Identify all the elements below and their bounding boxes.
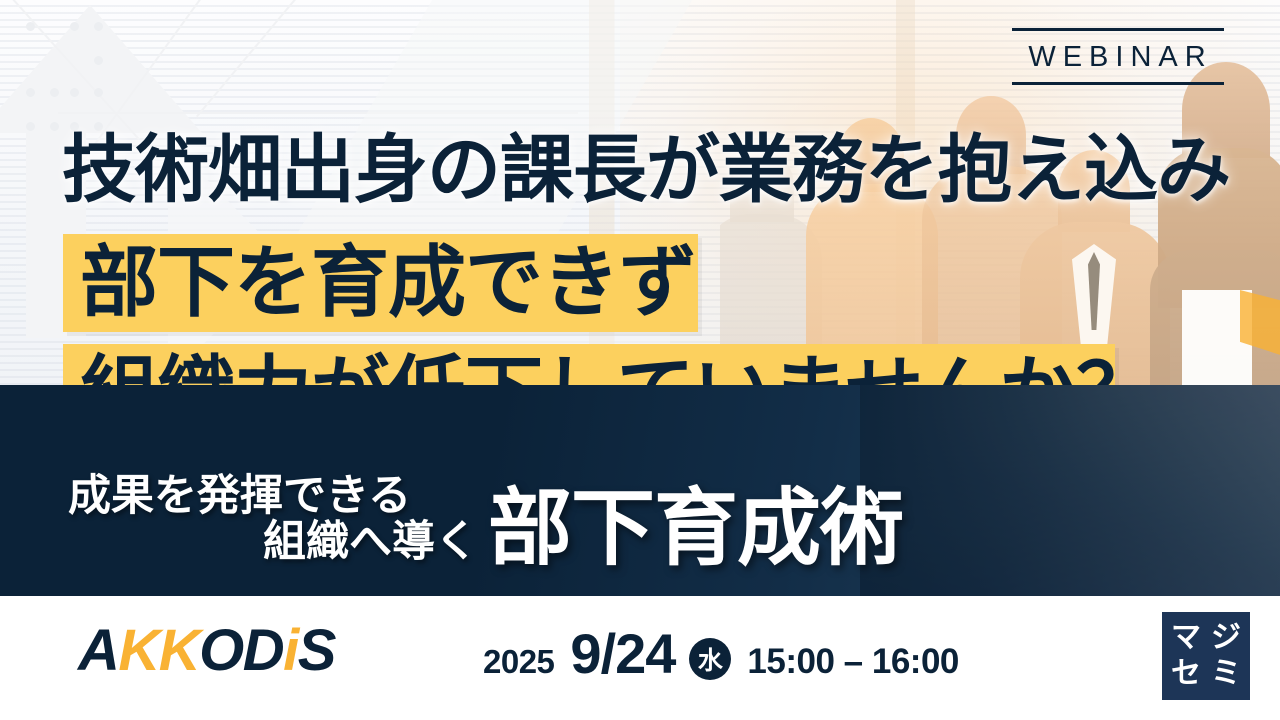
schedule-month-day: 9/24 [570,626,675,682]
akkodis-logo-part-i: i [283,618,298,683]
subtitle-group: 成果を発揮できる 組織へ導く 部下育成術 [0,385,1280,596]
majisemi-char-3: セ [1166,656,1206,692]
akkodis-logo-part-s: S [298,618,335,683]
schedule-time: 15:00 – 16:00 [747,642,958,682]
akkodis-logo-part-kk: KK [118,618,199,683]
schedule-year: 2025 [483,643,554,681]
headline-line-1: 技術畑出身の課長が業務を抱え込み [62,129,1230,211]
subtitle-small-line-1: 成果を発揮できる [68,473,411,519]
akkodis-logo-part-a: A [78,618,118,683]
majisemi-char-4: ミ [1206,656,1246,692]
headline-line-2: 部下を育成できず [80,243,696,321]
subtitle-emphasis: 部下育成術 [488,485,903,571]
akkodis-logo: AKKODiS [78,622,335,680]
schedule-group: 2025 9/24 水 15:00 – 16:00 [483,626,959,684]
footer-bar: AKKODiS 2025 9/24 水 15:00 – 16:00 [0,596,1280,720]
schedule-day-of-week-badge: 水 [689,638,731,680]
majisemi-char-2: ジ [1206,620,1246,656]
webinar-banner: WEBINAR 技術畑出身の課長が業務を抱え込み 部下を育成できず 組織力が低下… [0,0,1280,720]
majisemi-char-1: マ [1166,620,1206,656]
akkodis-logo-part-od: OD [199,618,283,683]
majisemi-logo: マ ジ セ ミ [1162,612,1250,700]
subtitle-small-line-2: 組織へ導く [263,519,478,565]
